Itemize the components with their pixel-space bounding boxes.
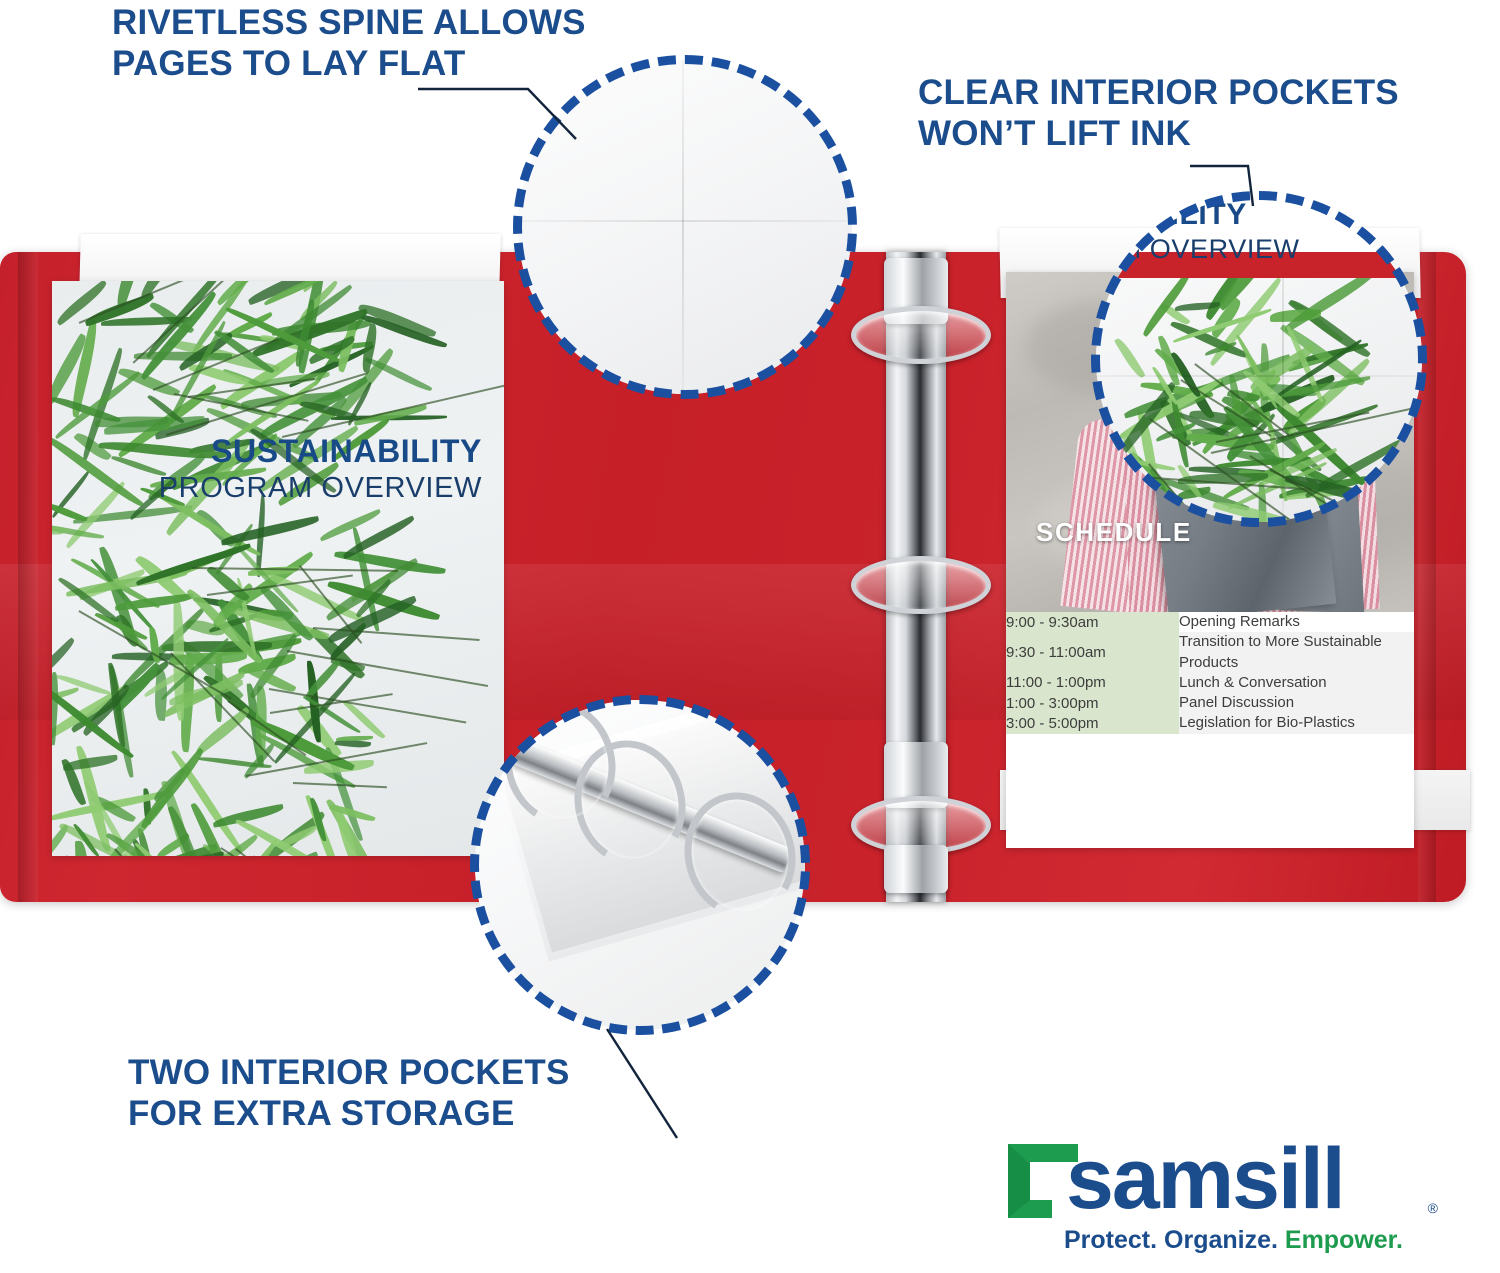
left-document-title: SUSTAINABILITY: [52, 433, 482, 470]
tagline-blue-part: Protect. Organize.: [1064, 1226, 1285, 1254]
schedule-item-cell: Lunch & Conversation: [1179, 673, 1414, 693]
ring-clip-base: [884, 845, 948, 893]
schedule-time-cell: 1:00 - 3:00pm: [1006, 693, 1179, 713]
schedule-item-cell: Transition to More Sustainable Products: [1179, 632, 1414, 673]
callout-clear-interior-pockets: CLEAR INTERIOR POCKETS WON’T LIFT INK: [918, 72, 1399, 155]
schedule-row: 11:00 - 1:00pmLunch & Conversation: [1006, 673, 1414, 693]
callout-two-interior-pockets: TWO INTERIOR POCKETS FOR EXTRA STORAGE: [128, 1052, 570, 1135]
schedule-item-cell: Opening Remarks: [1179, 612, 1414, 632]
logo-tagline: Protect. Organize. Empower.: [1064, 1226, 1403, 1255]
tagline-green-part: Empower.: [1285, 1226, 1403, 1254]
bamboo-leaf: [220, 515, 320, 545]
dashed-ring-rings-detail: [470, 695, 810, 1035]
schedule-time-cell: 9:30 - 11:00am: [1006, 632, 1179, 673]
schedule-time-cell: 3:00 - 5:00pm: [1006, 713, 1179, 733]
binder-ring-top: [851, 306, 991, 364]
bamboo-leaf: [64, 853, 110, 856]
bamboo-leaf: [52, 521, 65, 537]
binder-ring-middle: [851, 556, 991, 614]
product-feature-image: SUSTAINABILITY PROGRAM OVERVIEW SCHEDULE: [0, 0, 1500, 1273]
callout-rivetless-spine: RIVETLESS SPINE ALLOWS PAGES TO LAY FLAT: [112, 2, 586, 85]
left-document-subtitle: PROGRAM OVERVIEW: [52, 472, 482, 505]
schedule-time-cell: 11:00 - 1:00pm: [1006, 673, 1179, 693]
schedule-table: 9:00 - 9:30amOpening Remarks9:30 - 11:00…: [1006, 612, 1414, 734]
left-document-title-block: SUSTAINABILITY PROGRAM OVERVIEW: [52, 433, 482, 505]
schedule-row: 9:30 - 11:00amTransition to More Sustain…: [1006, 632, 1414, 673]
dashed-ring-spine-detail: [513, 55, 857, 399]
bamboo-leaf: [336, 736, 373, 741]
samsill-logo: samsill ® Protect. Organize. Empower.: [1004, 1138, 1436, 1258]
schedule-row: 1:00 - 3:00pmPanel Discussion: [1006, 693, 1414, 713]
schedule-row: 9:00 - 9:30amOpening Remarks: [1006, 612, 1414, 632]
binder-left-edge: [18, 252, 38, 902]
logo-wordmark: samsill: [1066, 1130, 1344, 1229]
schedule-item-cell: Panel Discussion: [1179, 693, 1414, 713]
leader-line-two-pockets: [607, 1029, 677, 1138]
schedule-row: 3:00 - 5:00pmLegislation for Bio-Plastic…: [1006, 713, 1414, 733]
logo-registered-mark: ®: [1428, 1200, 1438, 1216]
left-document-cover: SUSTAINABILITY PROGRAM OVERVIEW: [52, 281, 504, 856]
dashed-ring-pocket-detail: [1091, 191, 1427, 527]
schedule-time-cell: 9:00 - 9:30am: [1006, 612, 1179, 632]
schedule-item-cell: Legislation for Bio-Plastics: [1179, 713, 1414, 733]
bamboo-leaves-illustration: [52, 281, 504, 856]
